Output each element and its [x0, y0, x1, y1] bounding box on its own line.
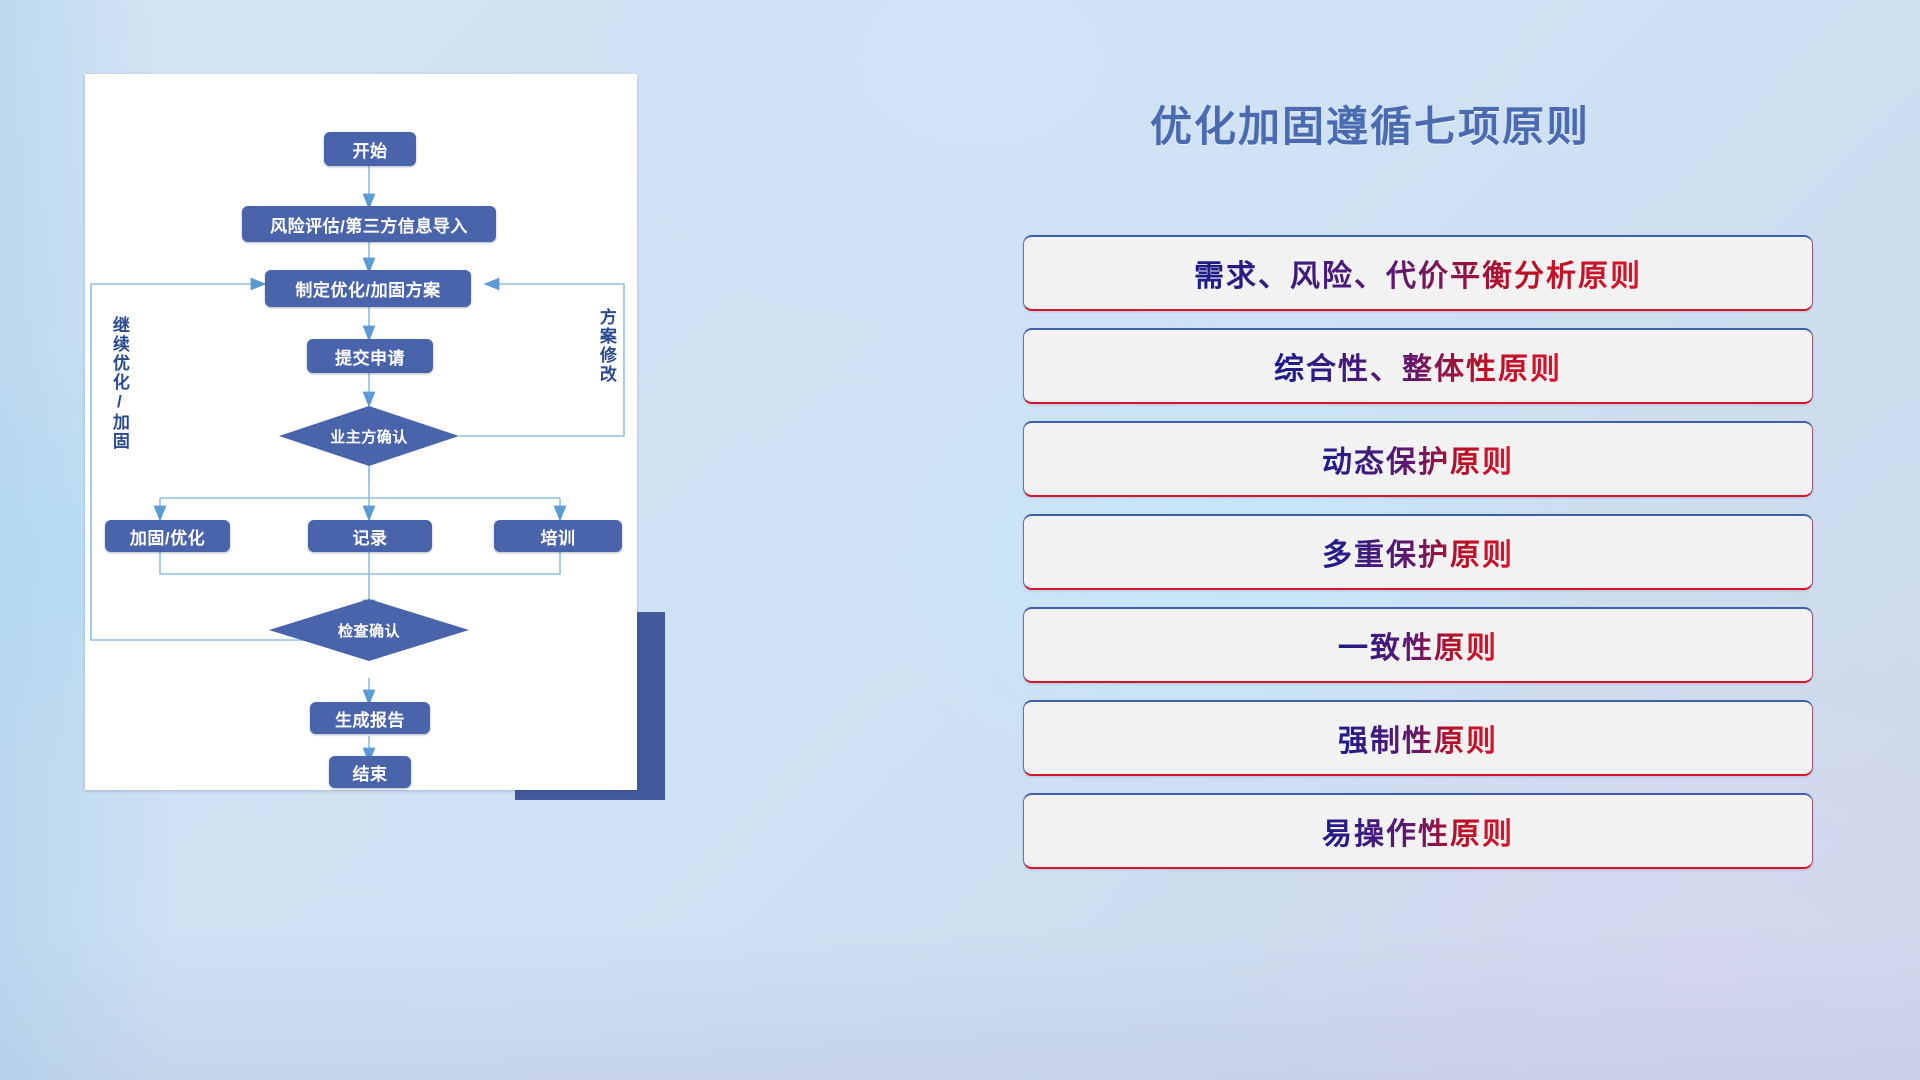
flow-node-label: 培训: [541, 524, 576, 549]
flow-node-label: 检查确认: [338, 620, 400, 641]
principle-label: 多重保护原则: [1322, 530, 1514, 574]
flow-node-label: 生成报告: [335, 706, 405, 731]
flowchart-card: 开始 风险评估/第三方信息导入 制定优化/加固方案 提交申请 业主方确认 加固/…: [85, 74, 637, 790]
flow-node-end[interactable]: 结束: [329, 756, 411, 788]
flow-node-plan[interactable]: 制定优化/加固方案: [265, 270, 471, 307]
edge-label-plan-revision: 方案修改: [597, 308, 615, 384]
principle-item-7[interactable]: 易操作性原则: [1023, 793, 1813, 869]
flow-node-label: 开始: [353, 137, 388, 162]
flow-node-risk-assessment[interactable]: 风险评估/第三方信息导入: [242, 206, 496, 242]
principle-item-1[interactable]: 需求、风险、代价平衡分析原则: [1023, 235, 1813, 311]
principle-item-3[interactable]: 动态保护原则: [1023, 421, 1813, 497]
flow-node-label: 业主方确认: [330, 426, 408, 447]
principle-label: 易操作性原则: [1322, 809, 1514, 853]
flow-node-label: 制定优化/加固方案: [295, 276, 440, 301]
page-title: 优化加固遵循七项原则: [1150, 93, 1670, 154]
flow-node-record[interactable]: 记录: [308, 520, 432, 552]
flow-node-generate-report[interactable]: 生成报告: [310, 702, 430, 734]
flow-node-label: 记录: [353, 524, 388, 549]
principles-list: 需求、风险、代价平衡分析原则 综合性、整体性原则 动态保护原则 多重保护原则 一…: [1023, 235, 1813, 886]
principle-item-5[interactable]: 一致性原则: [1023, 607, 1813, 683]
flow-node-submit-application[interactable]: 提交申请: [307, 339, 433, 373]
principle-item-6[interactable]: 强制性原则: [1023, 700, 1813, 776]
flow-node-label: 结束: [353, 760, 388, 785]
flow-node-label: 提交申请: [335, 344, 405, 369]
flow-node-check-confirm[interactable]: 检查确认: [269, 599, 469, 661]
principle-label: 强制性原则: [1338, 716, 1498, 760]
principle-label: 动态保护原则: [1322, 437, 1514, 481]
edge-label-continue-optimize: 继续优化/加固: [110, 316, 128, 451]
principle-label: 需求、风险、代价平衡分析原则: [1194, 251, 1642, 295]
flow-node-start[interactable]: 开始: [324, 132, 416, 166]
flow-node-reinforce[interactable]: 加固/优化: [105, 520, 230, 552]
flow-node-owner-confirm[interactable]: 业主方确认: [279, 406, 459, 466]
principle-item-2[interactable]: 综合性、整体性原则: [1023, 328, 1813, 404]
flow-node-label: 风险评估/第三方信息导入: [270, 212, 468, 237]
principle-label: 综合性、整体性原则: [1274, 344, 1562, 388]
flow-node-training[interactable]: 培训: [494, 520, 622, 552]
flow-node-label: 加固/优化: [130, 524, 205, 549]
principle-item-4[interactable]: 多重保护原则: [1023, 514, 1813, 590]
principle-label: 一致性原则: [1338, 623, 1498, 667]
